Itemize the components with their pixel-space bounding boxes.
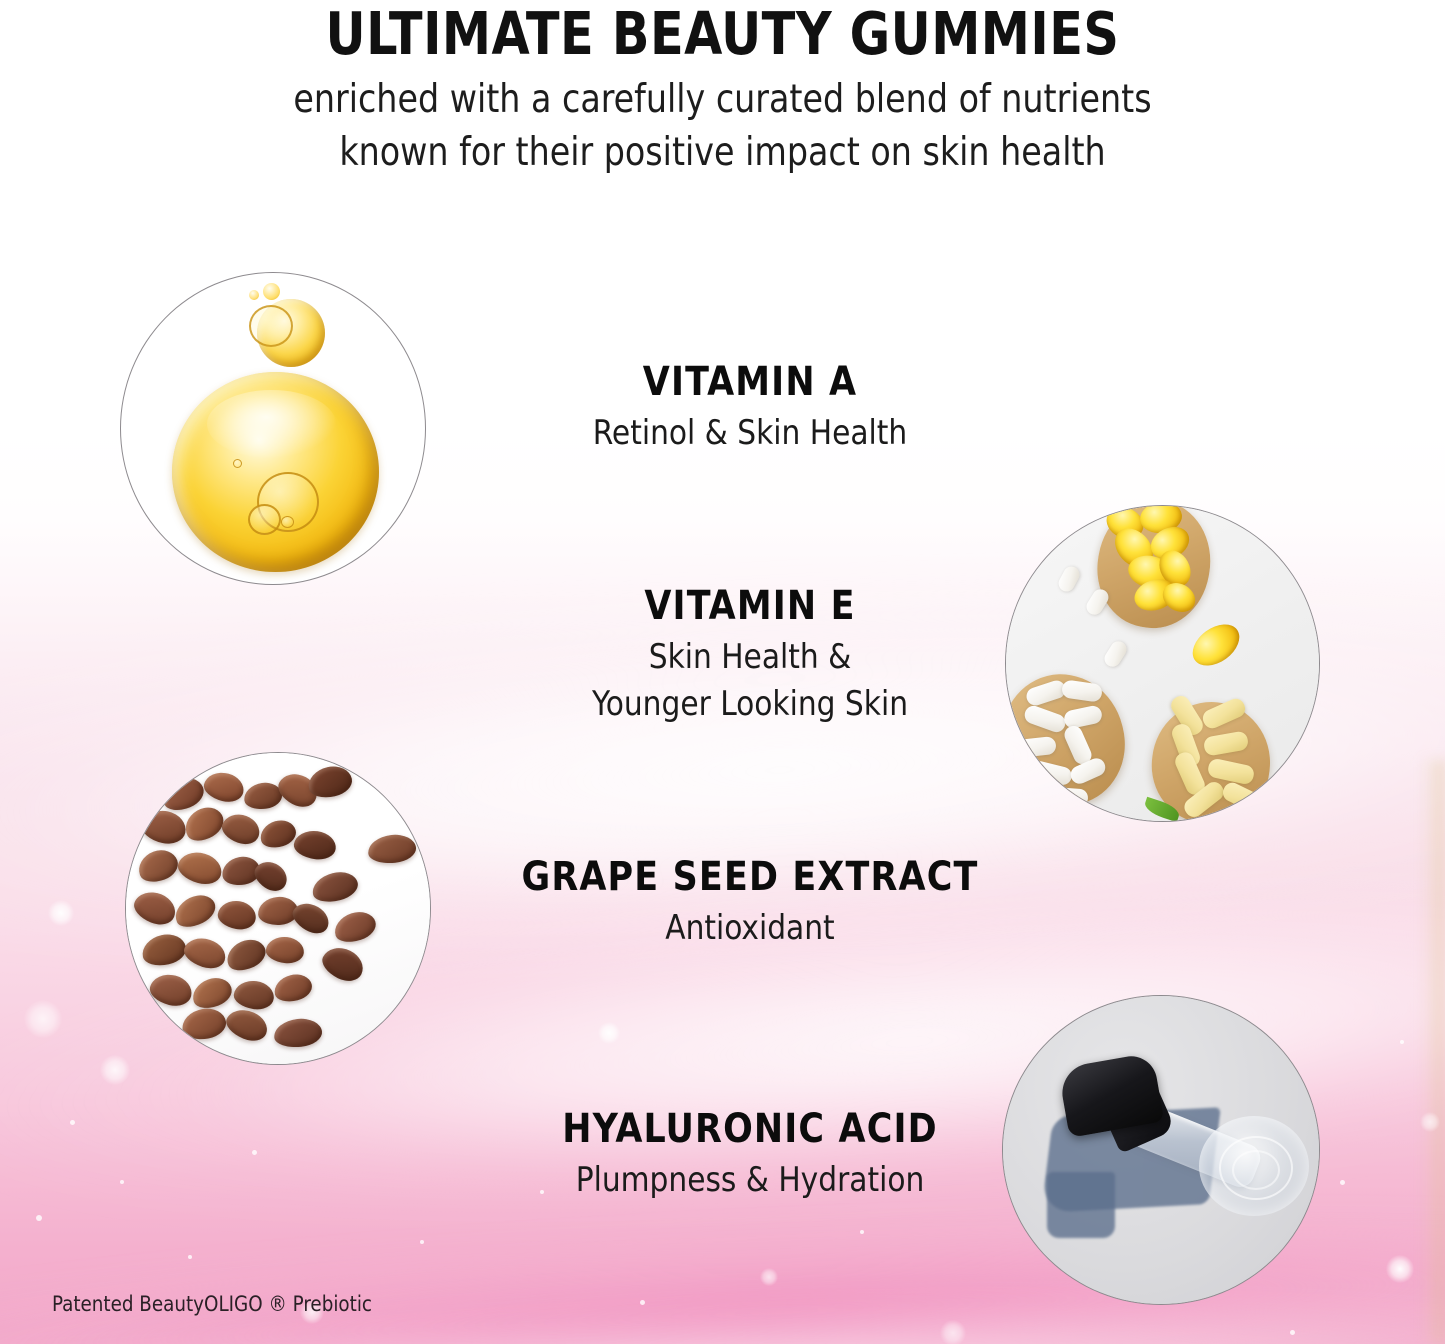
ingredient-description-line-1: Antioxidant	[314, 905, 1187, 952]
ingredient-name: VITAMIN A	[352, 358, 1147, 406]
serum-gel-swirl	[1199, 1116, 1309, 1216]
product-infographic: ULTIMATE BEAUTY GUMMIES enriched with a …	[0, 0, 1445, 1344]
oil-inner-ring-d	[233, 459, 242, 468]
ingredient-description-line-1: Retinol & Skin Health	[352, 410, 1147, 457]
ingredient-text-vitamin-a: VITAMIN A Retinol & Skin Health	[340, 358, 1160, 457]
oil-inner-ring-c	[281, 516, 294, 528]
oil-bubble-medium-ring	[249, 305, 293, 347]
oil-bubble-tiny-b	[249, 290, 259, 300]
header: ULTIMATE BEAUTY GUMMIES enriched with a …	[0, 0, 1445, 179]
subtitle-line-2: known for their positive impact on skin …	[36, 126, 1409, 179]
subtitle-line-1: enriched with a carefully curated blend …	[36, 73, 1409, 126]
page-title: ULTIMATE BEAUTY GUMMIES	[51, 0, 1395, 63]
ingredient-description-line-1: Skin Health &	[352, 634, 1147, 681]
oil-inner-ring-b	[248, 504, 281, 535]
subtitle: enriched with a carefully curated blend …	[0, 73, 1445, 179]
ingredient-text-vitamin-e: VITAMIN E Skin Health & Younger Looking …	[340, 582, 1160, 728]
ingredient-description-line-2: Younger Looking Skin	[352, 681, 1147, 728]
ingredient-text-hyaluronic-acid: HYALURONIC ACID Plumpness & Hydration	[300, 1105, 1200, 1204]
oil-bubble-tiny-a	[263, 283, 280, 300]
ingredient-name: HYALURONIC ACID	[314, 1105, 1187, 1153]
ingredient-name: GRAPE SEED EXTRACT	[314, 853, 1187, 901]
ingredient-text-grape-seed: GRAPE SEED EXTRACT Antioxidant	[300, 853, 1200, 952]
footnote-patent: Patented BeautyOLIGO ® Prebiotic	[52, 1292, 372, 1316]
background-warm-right-edge	[1419, 760, 1445, 1344]
ingredient-description-line-1: Plumpness & Hydration	[314, 1157, 1187, 1204]
ingredient-name: VITAMIN E	[352, 582, 1147, 630]
white-capsule	[1045, 787, 1088, 808]
